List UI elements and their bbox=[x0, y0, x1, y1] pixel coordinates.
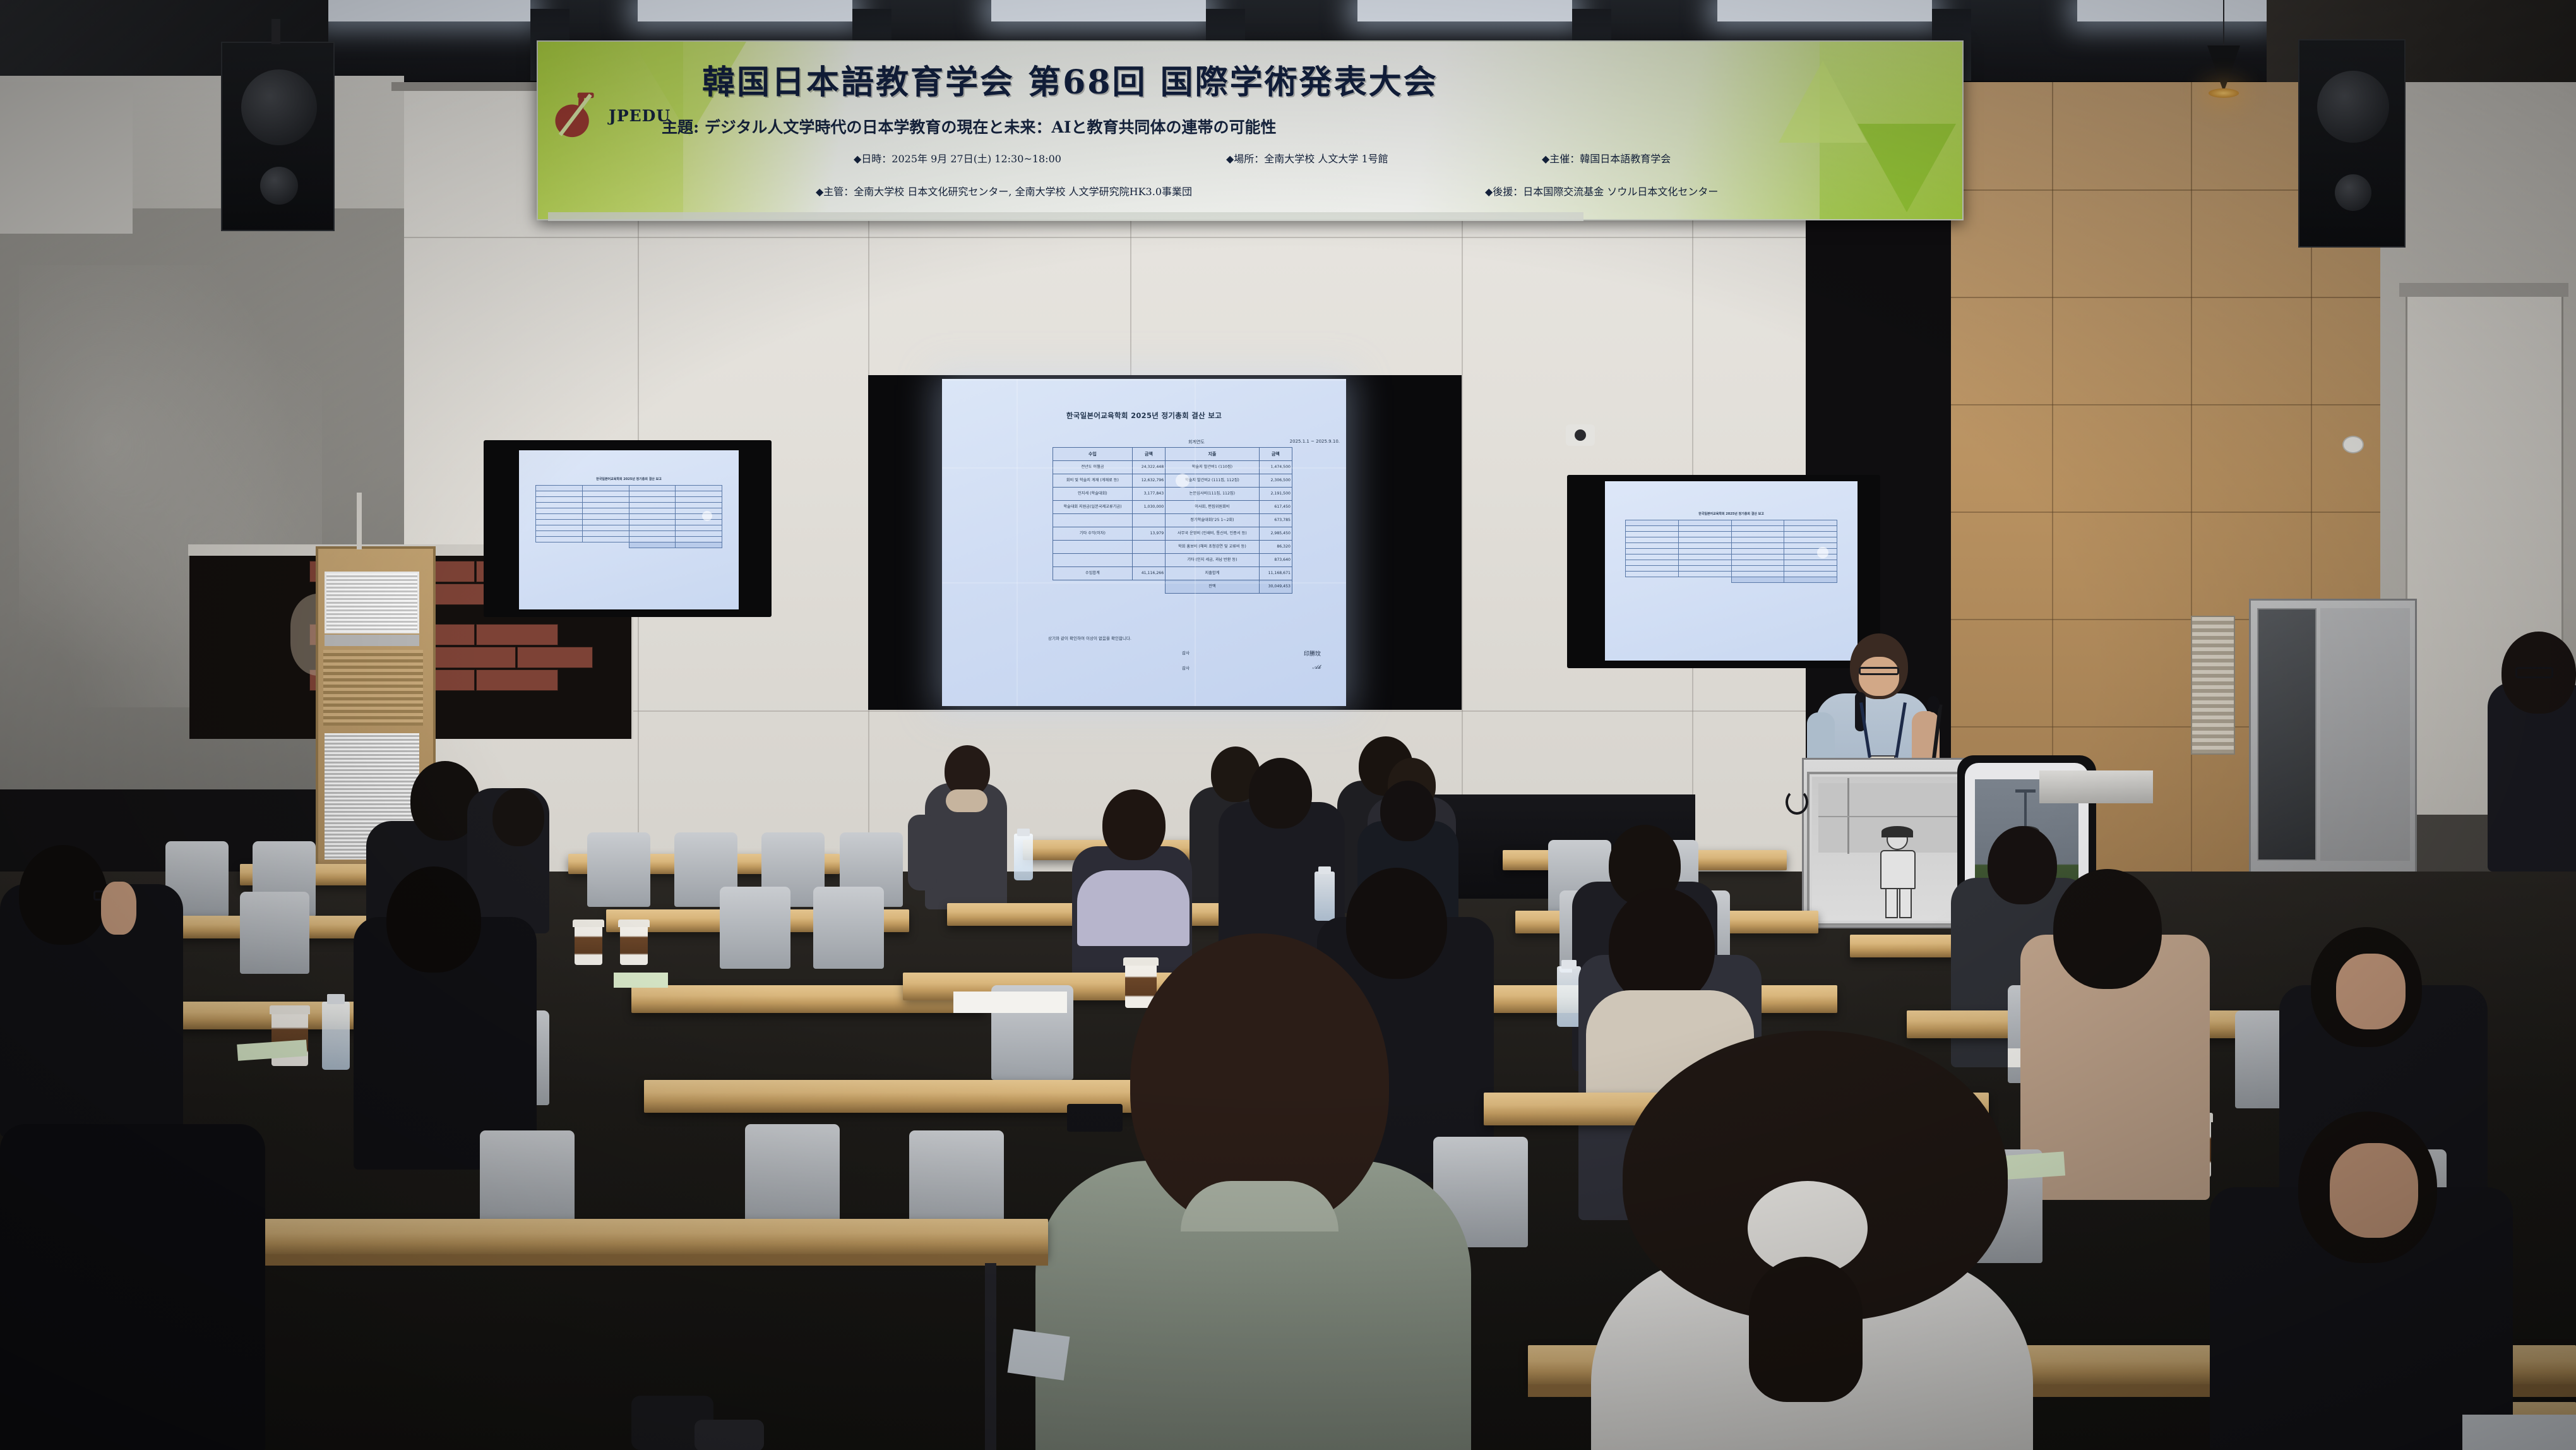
audience-head bbox=[1346, 868, 1447, 979]
pendant-lamp-icon bbox=[2207, 45, 2240, 92]
audience-glasses-icon bbox=[2515, 667, 2553, 678]
audience-shirt bbox=[1077, 870, 1190, 946]
table-row: 회비 및 학술지 게재 (게재료 등)12,632,796학술지 발간비2 (1… bbox=[1053, 474, 1292, 488]
banner-info-organizer: ◆主管：全南大学校 日本文化研究センター, 全南大学校 人文学研究院HK3.0事… bbox=[816, 183, 1192, 198]
th-expense-amt: 금액 bbox=[1259, 448, 1292, 461]
chair bbox=[240, 892, 309, 974]
table-totals-row: 수입합계 41,116,266 지출합계 11,168,671 bbox=[1053, 567, 1292, 580]
collar bbox=[1181, 1181, 1339, 1231]
bag bbox=[695, 1420, 764, 1450]
ac-mid-louvers bbox=[323, 650, 423, 726]
coffee-cup-lid bbox=[1123, 957, 1159, 966]
presenter-glasses-icon bbox=[1859, 667, 1899, 675]
ceiling-light-2 bbox=[638, 0, 852, 21]
banner-info-venue: ◆場所：全南大学校 人文大学 1号館 bbox=[1226, 150, 1388, 165]
table-row: 정기학술대회('25 1~2회)673,785 bbox=[1053, 514, 1292, 527]
th-expense: 지출 bbox=[1166, 448, 1259, 461]
ac-control-panel bbox=[325, 635, 419, 646]
door-header-trim bbox=[2399, 283, 2568, 297]
radiator-unit bbox=[2191, 616, 2235, 755]
right-monitor-title: 한국일본어교육학회 2025년 정기총회 결산 보고 bbox=[1605, 512, 1857, 516]
table-row: 인지세 (학술대회)3,177,843논문심사비(111집, 112집)2,19… bbox=[1053, 488, 1292, 501]
stone-seam bbox=[1951, 512, 2393, 513]
left-monitor-title: 한국일본어교육학회 2025년 정기총회 결산 보고 bbox=[519, 477, 739, 481]
coffee-cup bbox=[620, 923, 648, 965]
desk bbox=[644, 1080, 1136, 1113]
ceiling-light-1 bbox=[322, 0, 530, 21]
signature-mark-2: 𝒜𝓀 bbox=[1313, 664, 1321, 671]
signature-role-2: 감사 bbox=[1182, 664, 1190, 671]
stone-seam bbox=[2191, 82, 2192, 878]
audience-head bbox=[1609, 888, 1715, 1005]
chair bbox=[813, 887, 884, 969]
audience-head bbox=[1102, 789, 1166, 860]
th-income-amt: 금액 bbox=[1132, 448, 1165, 461]
pendant-lamp-glow bbox=[2209, 88, 2239, 98]
th-income: 수입 bbox=[1053, 448, 1133, 461]
stone-seam bbox=[1951, 404, 2393, 405]
desk-leg bbox=[985, 1263, 996, 1450]
bottle-cap bbox=[1318, 866, 1331, 874]
left-pa-speaker bbox=[221, 42, 335, 231]
slide-meta-label: 회계연도 bbox=[1188, 439, 1205, 445]
speaker-tweeter-icon bbox=[2335, 174, 2371, 211]
bottle-cap bbox=[327, 994, 345, 1004]
left-white-pillar bbox=[0, 82, 133, 234]
coffee-cup-lid bbox=[573, 920, 604, 927]
coffee-cup-lid bbox=[270, 1005, 310, 1014]
table-header-row: 수입 금액 지출 금액 bbox=[1053, 448, 1292, 461]
projection-hotspot bbox=[1176, 474, 1190, 488]
stone-seam bbox=[1951, 297, 2393, 298]
wall-camera-icon bbox=[1566, 424, 1595, 446]
chair bbox=[587, 832, 650, 907]
smartphone bbox=[1067, 1104, 1123, 1132]
cabinet-body bbox=[2320, 608, 2410, 861]
wall-panel-seam bbox=[391, 237, 1806, 238]
total-income-value: 41,116,266 bbox=[1132, 567, 1165, 580]
speaker-mount-bracket bbox=[271, 19, 280, 44]
chair bbox=[745, 1124, 840, 1235]
ceiling-light-6 bbox=[2077, 0, 2267, 21]
speaker-tweeter-icon bbox=[260, 167, 298, 205]
audience-head bbox=[1249, 758, 1312, 829]
right-wall-monitor: 한국일본어교육학회 2025년 정기총회 결산 보고 bbox=[1567, 475, 1880, 668]
bottle-cap bbox=[1017, 829, 1030, 836]
audience-head bbox=[2053, 869, 2162, 989]
banner-info-support: ◆後援：日本国際交流基金 ソウル日本文化センター bbox=[1485, 183, 1718, 198]
ac-pipe bbox=[357, 493, 362, 549]
lecture-hall-photo: 한국일본어교육학회 2025년 정기총회 결산 보고 회계연도 2025.1.1… bbox=[0, 0, 2576, 1450]
right-monitor-table bbox=[1625, 520, 1837, 583]
right-pa-speaker bbox=[2298, 39, 2406, 248]
printed-program bbox=[2462, 1415, 2576, 1450]
equipment-cabinet bbox=[2249, 599, 2417, 908]
total-income-label: 수입합계 bbox=[1053, 567, 1133, 580]
ponytail bbox=[1749, 1257, 1863, 1402]
slide-meta-value: 2025.1.1 ~ 2025.9.10. bbox=[1290, 439, 1340, 445]
projection-screen-image: 한국일본어교육학회 2025년 정기총회 결산 보고 회계연도 2025.1.1… bbox=[942, 379, 1346, 706]
signature-mark-1: 印勝玟 bbox=[1304, 649, 1321, 657]
audience-face bbox=[2330, 1143, 2418, 1238]
coffee-cup bbox=[575, 923, 602, 965]
speaker-cone-icon bbox=[241, 69, 317, 145]
gooseneck-mic-head-icon bbox=[1927, 696, 1940, 712]
table-row: 기타 수익(이자)13,979사무국 운영비 (인쇄비, 통신비, 인증서 등)… bbox=[1053, 527, 1292, 541]
audience-face bbox=[101, 882, 136, 935]
audience-head bbox=[492, 788, 544, 846]
audience-person bbox=[0, 1124, 265, 1450]
water-bottle bbox=[1557, 966, 1581, 1027]
chair bbox=[720, 887, 790, 969]
banner-bottom-rail bbox=[548, 212, 1583, 221]
ceiling-light-3 bbox=[991, 0, 1206, 21]
conference-banner: JPEDU 韓国日本語教育学会 第68回 国際学術発表大会 主題: デジタル人文… bbox=[537, 40, 1964, 220]
ac-upper-vent bbox=[325, 572, 419, 633]
ceiling-light-4 bbox=[1357, 0, 1572, 21]
total-expense-label: 지출합계 bbox=[1166, 567, 1259, 580]
audience-head bbox=[1988, 826, 2057, 904]
coffee-cup-lid bbox=[618, 920, 650, 927]
bottle-cap bbox=[1561, 960, 1577, 969]
right-monitor-reflection bbox=[1817, 547, 1828, 558]
audience-face bbox=[2336, 954, 2406, 1029]
audience-head bbox=[1380, 781, 1436, 841]
audience-arm bbox=[908, 815, 937, 890]
banner-info-host: ◆主催：韓国日本語教育学会 bbox=[1542, 150, 1671, 165]
podium-cable bbox=[1786, 789, 1808, 815]
printed-program bbox=[1008, 1329, 1070, 1381]
ceiling-light-5 bbox=[1717, 0, 1932, 21]
speaker-cone-icon bbox=[2317, 71, 2389, 143]
cabinet-glass-door bbox=[2257, 608, 2317, 861]
audience-person bbox=[1355, 791, 1361, 797]
banner-subtitle: 主題: デジタル人文学時代の日本学教育の現在と未来：AIと教育共同体の連帯の可能… bbox=[662, 115, 1277, 138]
left-monitor-table bbox=[535, 485, 722, 548]
signature-role-1: 감사 bbox=[1182, 649, 1190, 657]
table-row: 학회 홍보비 (해외 초청강연 및 교류비 등)86,320 bbox=[1053, 541, 1292, 554]
audience-head bbox=[386, 866, 481, 973]
table-row: 기타 (인지 세금, 과납 반환 등)873,640 bbox=[1053, 554, 1292, 567]
handout bbox=[614, 973, 668, 988]
left-monitor-screen: 한국일본어교육학회 2025년 정기총회 결산 보고 bbox=[519, 450, 739, 609]
banner-info-date: ◆日時：2025年 9月 27日(土) 12:30~18:00 bbox=[854, 150, 1061, 165]
jpedu-logo-icon bbox=[549, 87, 604, 141]
left-wall-monitor: 한국일본어교육학회 2025년 정기총회 결산 보고 bbox=[484, 440, 772, 617]
audience-collar bbox=[946, 789, 987, 812]
pendant-lamp-cord bbox=[2223, 0, 2224, 49]
smoke-detector-icon bbox=[2342, 436, 2364, 453]
banner-title: 韓国日本語教育学会 第68回 国際学術発表大会 bbox=[702, 56, 1438, 103]
right-monitor-screen: 한국일본어교육학회 2025년 정기총회 결산 보고 bbox=[1605, 481, 1857, 661]
left-monitor-reflection bbox=[702, 511, 712, 521]
settlement-table: 수입 금액 지출 금액 전년도 이월금24,322,448학술지 발간비1 (1… bbox=[1052, 447, 1292, 594]
total-expense-value: 11,168,671 bbox=[1259, 567, 1292, 580]
printed-program bbox=[953, 992, 1067, 1013]
podium-side-table bbox=[2039, 770, 2153, 803]
table-row: 학술대회 지원금(일본국제교류기금)1,030,000이사회, 편집위원회비61… bbox=[1053, 501, 1292, 514]
slide-footer-note: 상기와 같이 확인하여 이상이 없음을 확인합니다. bbox=[1048, 635, 1131, 641]
slide-doc-title: 한국일본어교육학회 2025년 정기총회 결산 보고 bbox=[948, 410, 1340, 421]
water-bottle bbox=[322, 1002, 350, 1070]
water-bottle bbox=[1315, 872, 1335, 921]
presenter-face bbox=[1859, 657, 1899, 696]
water-bottle bbox=[1014, 834, 1033, 880]
